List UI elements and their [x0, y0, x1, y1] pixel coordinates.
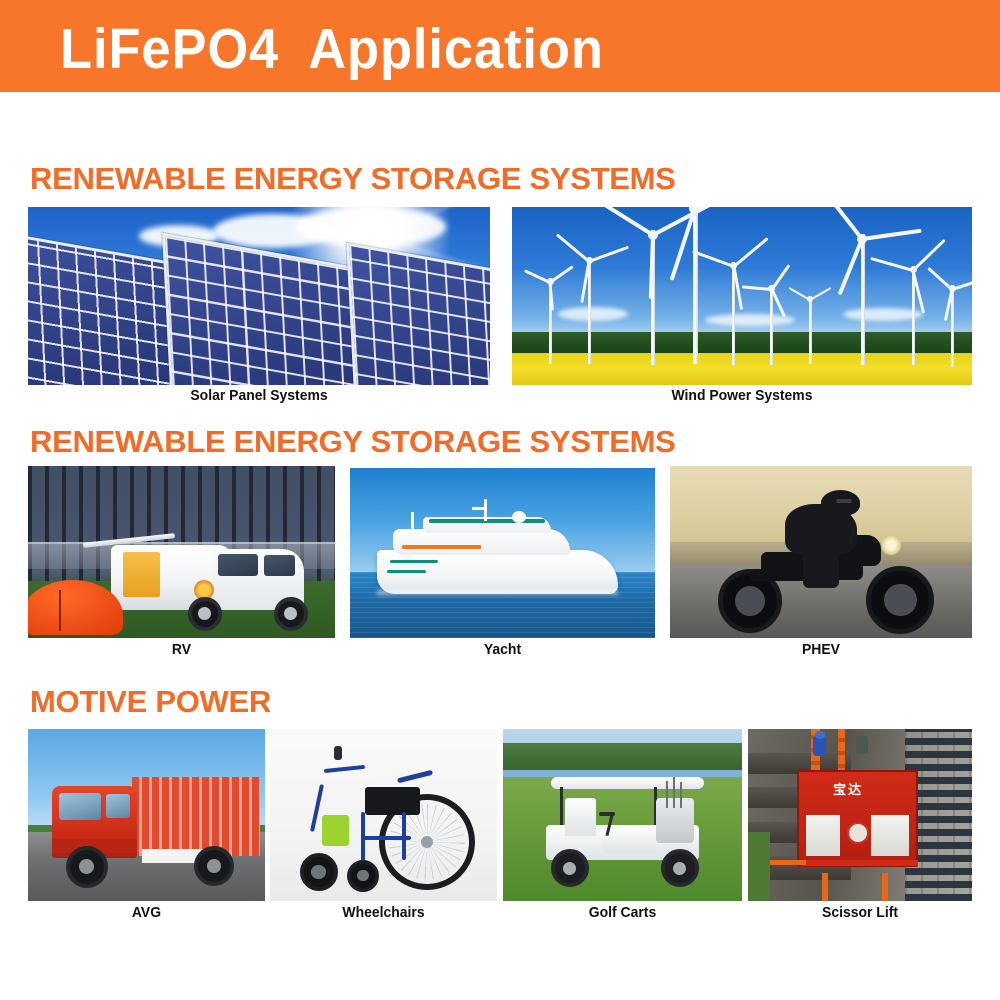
caption-wheelchairs: Wheelchairs [278, 904, 489, 921]
cargo-truck-photo [28, 729, 265, 901]
cruise-ship-photo [350, 468, 655, 638]
electric-wheelchair-photo [270, 729, 497, 901]
tile-rv [28, 466, 335, 638]
tile-yacht [350, 468, 655, 638]
rv-camper-photo [28, 466, 335, 638]
motorcycle-photo [670, 466, 972, 638]
caption-solar-panel: Solar Panel Systems [44, 387, 474, 404]
hoist-company-text: 宝达 [833, 779, 863, 798]
solar-panel-photo [28, 207, 490, 385]
wind-turbines-photo [512, 207, 972, 385]
section-heading-renewable-2: RENEWABLE ENERGY STORAGE SYSTEMS [30, 424, 676, 460]
section-heading-renewable-1: RENEWABLE ENERGY STORAGE SYSTEMS [30, 161, 676, 197]
construction-hoist-photo: 宝达 [748, 729, 972, 901]
caption-avg: AVG [36, 904, 256, 921]
caption-golf-carts: Golf Carts [511, 904, 733, 921]
tile-wheelchairs [270, 729, 497, 901]
tile-solar-panel [28, 207, 490, 385]
section-heading-motive-power: MOTIVE POWER [30, 684, 271, 720]
tile-wind-power [512, 207, 972, 385]
page-title: LiFePO4 Application [60, 16, 604, 82]
caption-phev: PHEV [681, 641, 962, 658]
page-header-banner: LiFePO4 Application [0, 0, 1000, 92]
tile-golf-carts [503, 729, 742, 901]
caption-scissor-lift: Scissor Lift [756, 904, 964, 921]
caption-rv: RV [39, 641, 325, 658]
tile-phev [670, 466, 972, 638]
tile-avg [28, 729, 265, 901]
caption-wind-power: Wind Power Systems [528, 387, 956, 404]
caption-yacht: Yacht [361, 641, 645, 658]
tile-scissor-lift: 宝达 [748, 729, 972, 901]
golf-cart-photo [503, 729, 742, 901]
